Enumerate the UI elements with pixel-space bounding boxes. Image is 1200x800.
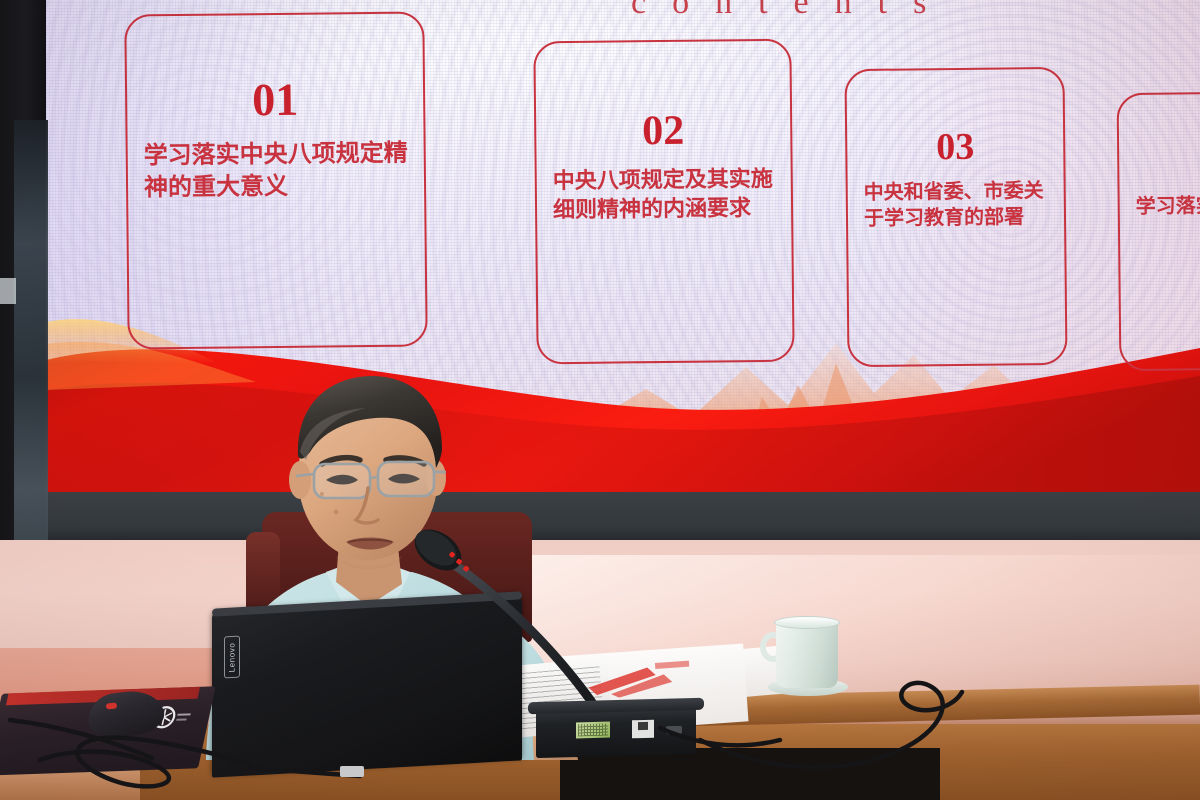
card-01-number: 01	[143, 76, 407, 125]
glass-highlight	[0, 278, 16, 304]
content-card-02: 02 中央八项规定及其实施细则精神的内涵要求	[533, 39, 794, 365]
card-01-text: 学习落实中央八项规定精神的重大意义	[144, 138, 409, 204]
lenovo-logo-badge: Lenovo	[224, 636, 240, 679]
card-04-text: 学习落实中规定精神，投发展稳步	[1136, 191, 1200, 219]
mug-rim	[774, 616, 840, 629]
content-card-04: 04 学习落实中规定精神，投发展稳步	[1117, 91, 1200, 371]
mic-info-label	[632, 720, 654, 739]
conference-room-photo: contents 01 学习落实中央八项规定精神的重大意义 02 中央八项规定及…	[0, 0, 1200, 800]
deck-title: contents	[631, 0, 952, 22]
card-03-number: 03	[863, 127, 1047, 167]
lenovo-logo-text: Lenovo	[228, 642, 237, 672]
card-04-number: 04	[1135, 141, 1200, 181]
card-02-text: 中央八项规定及其实施细则精神的内涵要求	[553, 165, 776, 225]
content-card-03: 03 中央和省委、市委关于学习教育的部署	[844, 67, 1067, 367]
coffee-mug	[776, 620, 838, 688]
card-02-number: 02	[552, 109, 774, 153]
card-03-text: 中央和省委、市委关于学习教育的部署	[864, 177, 1049, 232]
mic-talk-button[interactable]	[666, 726, 682, 734]
content-card-01: 01 学习落实中央八项规定精神的重大意义	[124, 11, 427, 349]
mic-qr-label	[576, 722, 610, 739]
